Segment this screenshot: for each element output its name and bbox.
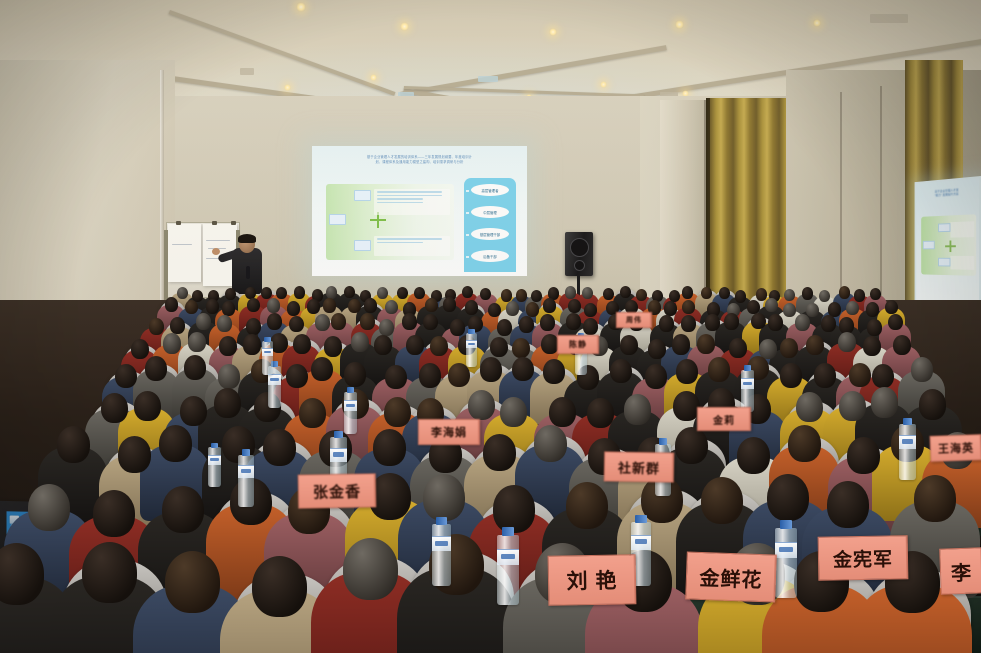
attendee-head — [893, 335, 911, 355]
attendee-head — [243, 334, 261, 354]
attendee-head — [131, 339, 149, 359]
attendee-head — [497, 319, 512, 336]
attendee-head — [871, 387, 898, 417]
recessed-downlight-icon — [284, 84, 291, 91]
attendee-head — [343, 538, 398, 600]
attendee-head — [28, 484, 70, 531]
ceiling-vent — [870, 14, 908, 23]
attendee-head — [724, 313, 739, 330]
secondary-plus-icon — [945, 240, 956, 252]
attendee-head — [566, 482, 608, 529]
water-bottle — [497, 535, 519, 605]
attendee-head — [795, 314, 810, 331]
attendee-head — [500, 397, 527, 427]
attendee-head — [814, 363, 836, 388]
attendee-head — [162, 486, 204, 533]
attendee-head — [584, 303, 597, 318]
attendee-head — [246, 318, 261, 335]
attendee-head — [385, 300, 398, 315]
attendee-head — [267, 313, 282, 330]
attendee-head — [516, 289, 527, 301]
name-card: 金莉 — [697, 407, 751, 431]
name-card: 张金香 — [298, 473, 377, 508]
attendee-head — [866, 302, 879, 317]
slide-bullet-oval: 后备干部 — [471, 250, 509, 262]
attendee-head — [480, 288, 491, 300]
attendee-head — [483, 434, 516, 471]
attendee-head — [534, 425, 567, 462]
attendee-head — [419, 363, 441, 388]
name-card-fold — [749, 407, 751, 430]
secondary-slide-title: 基于企业管理人才发 "能力" 发展提升方案 — [921, 187, 973, 199]
water-bottle — [741, 370, 754, 412]
attendee-head — [512, 357, 534, 382]
attendee-head — [568, 299, 581, 314]
attendee-head — [681, 315, 696, 332]
attendee-head — [543, 359, 565, 384]
attendee-head — [506, 301, 519, 316]
attendee-head — [911, 357, 933, 382]
attendee-head — [659, 315, 674, 332]
attendee-head — [315, 314, 330, 331]
recessed-downlight-icon — [675, 20, 684, 29]
attendee-head — [531, 290, 542, 302]
attendee-head — [351, 332, 369, 352]
attendee-head — [324, 336, 342, 356]
slide-tag-skill — [354, 240, 371, 251]
microphone — [246, 266, 250, 279]
attendee-head — [648, 339, 666, 359]
attendee-head — [134, 391, 161, 421]
presentation-slide: 基于企业管理人才发展的培训体系——三年发展规划纲要、年度培训计 划、课程体系及通… — [312, 146, 527, 276]
attendee-head — [377, 287, 388, 299]
water-bottle — [432, 524, 451, 586]
attendee-head — [177, 287, 188, 299]
attendee-head — [676, 359, 698, 384]
recessed-downlight-icon — [400, 22, 409, 31]
slide-bullet-oval: 高层管理者 — [471, 184, 509, 196]
attendee-head — [620, 286, 631, 298]
attendee-head — [849, 363, 871, 388]
attendee-head — [765, 298, 778, 313]
slide-text-box — [374, 236, 450, 256]
name-card-text: 金宪军 — [833, 544, 893, 572]
conference-room-photo: 基于企业管理人才发展的培训体系——三年发展规划纲要、年度培训计 划、课程体系及通… — [0, 0, 981, 653]
attendee-head — [170, 317, 185, 334]
attendee-head — [414, 287, 425, 299]
attendee-head — [806, 335, 824, 355]
water-bottle — [238, 455, 254, 507]
attendee-head — [217, 315, 232, 332]
attendee-head — [115, 364, 137, 389]
recessed-downlight-icon — [370, 74, 377, 81]
ceiling-vent — [240, 68, 254, 75]
attendee-head — [697, 334, 715, 354]
attendee-head — [549, 397, 576, 427]
water-bottle — [899, 424, 916, 480]
attendee-head — [767, 474, 809, 521]
attendee-head — [118, 436, 151, 473]
attendee-head — [323, 298, 336, 313]
name-card: 周伟 — [616, 312, 652, 328]
attendee-head — [664, 301, 677, 316]
attendee-head — [872, 364, 894, 389]
water-bottle — [262, 341, 273, 375]
attendee-head — [344, 286, 355, 298]
attendee-head — [219, 336, 237, 356]
attendee-head — [582, 287, 593, 299]
name-card-text: 李 — [951, 556, 973, 586]
attendee-head — [267, 298, 280, 313]
flipchart-clip — [231, 221, 236, 225]
name-card-text: 李海娟 — [431, 424, 467, 440]
attendee-head — [214, 388, 241, 418]
name-card-fold — [478, 419, 480, 444]
attendee-head — [374, 335, 392, 355]
attendee-head — [364, 298, 377, 313]
attendee-head — [854, 289, 865, 301]
attendee-head — [888, 314, 903, 331]
attendee-head — [450, 319, 465, 336]
attendee-head — [145, 356, 167, 381]
attendee-head — [425, 298, 438, 313]
name-card: 刘 艳 — [548, 554, 637, 606]
attendee-head — [180, 396, 207, 426]
attendee-head — [430, 336, 448, 356]
name-card: 金宪军 — [818, 535, 909, 581]
slide-tag-ability — [329, 214, 346, 225]
presenter-hair — [238, 234, 256, 243]
attendee-head — [863, 336, 881, 356]
ceiling-vent — [478, 76, 498, 82]
slide-green-panel — [326, 184, 454, 260]
attendee-head — [565, 286, 576, 298]
attendee-head — [672, 334, 690, 354]
attendee-head — [311, 357, 333, 382]
name-card: 社新群 — [604, 451, 675, 482]
flipchart-writing — [206, 240, 230, 241]
attendee-head — [838, 332, 856, 352]
attendee-head — [867, 319, 882, 336]
attendee-head — [373, 429, 406, 466]
attendee-head — [385, 365, 407, 390]
attendee-head — [603, 288, 614, 300]
attendee-head — [344, 362, 366, 387]
attendee-head — [331, 313, 346, 330]
attendee-head — [802, 287, 813, 299]
attendee-head — [526, 302, 539, 317]
attendee-head — [384, 397, 411, 427]
pa-speaker — [565, 232, 593, 276]
name-card-text: 王海英 — [938, 439, 975, 456]
attendee-head — [443, 297, 456, 312]
attendee-head — [465, 300, 478, 315]
attendee-head — [501, 289, 512, 301]
attendee-head — [488, 303, 501, 318]
attendee-head — [423, 474, 465, 521]
attendee-head — [360, 313, 375, 330]
name-card-text: 张金香 — [313, 480, 361, 502]
attendee-head — [493, 485, 535, 532]
attendee-head — [468, 390, 495, 420]
attendee-head — [780, 363, 802, 388]
attendee-head — [159, 425, 192, 462]
flipchart-writing — [172, 244, 192, 245]
attendee-head — [827, 481, 869, 528]
attendee-head — [218, 364, 240, 389]
recessed-downlight-icon — [296, 2, 306, 12]
projection-screen: 基于企业管理人才发展的培训体系——三年发展规划纲要、年度培训计 划、课程体系及通… — [312, 146, 527, 276]
attendee-head — [839, 391, 866, 421]
flipchart-clip — [212, 221, 217, 225]
water-bottle — [208, 447, 221, 487]
attendee-head — [839, 286, 850, 298]
attendee-head — [701, 477, 743, 524]
attendee-head — [543, 298, 556, 313]
slide-tag-knowledge — [354, 190, 371, 201]
attendee-head — [163, 333, 181, 353]
water-bottle — [466, 333, 477, 367]
flipchart-paper — [168, 224, 201, 282]
attendee-head — [705, 314, 720, 331]
attendee-head — [620, 335, 638, 355]
attendee-head — [57, 426, 90, 463]
name-card: 李 — [939, 547, 981, 594]
attendee-head — [624, 394, 651, 424]
name-card: 王海英 — [930, 434, 981, 462]
attendee-head — [402, 313, 417, 330]
slide-blue-panel: 高层管理者 中层管理 基层管理干部 后备干部 — [464, 178, 516, 272]
name-card-text: 刘 艳 — [566, 565, 617, 596]
recessed-downlight-icon — [600, 81, 607, 88]
attendee-head — [462, 286, 473, 298]
attendee-head — [566, 313, 581, 330]
attendee-head — [747, 300, 760, 315]
name-card-fold — [650, 312, 652, 327]
name-card: 李海娟 — [418, 419, 480, 445]
attendee-head — [751, 313, 766, 330]
attendee-head — [165, 297, 178, 312]
attendee-head — [101, 393, 128, 423]
attendee-head — [708, 357, 730, 382]
attendee-head — [682, 286, 693, 298]
attendee-head — [406, 335, 424, 355]
water-bottle — [344, 392, 357, 434]
attendee-head — [870, 288, 881, 300]
attendee-head — [294, 286, 305, 298]
name-card-text: 金鲜花 — [699, 561, 763, 592]
name-card: 金鲜花 — [685, 551, 777, 602]
attendee-head — [737, 437, 770, 474]
flipchart-clip — [176, 221, 181, 225]
presenter-hand — [212, 248, 220, 255]
attendee-head — [914, 475, 956, 522]
slide-title-text: 基于企业管理人才发展的培训体系——三年发展规划纲要、年度培训计 划、课程体系及通… — [320, 155, 519, 165]
attendee-head — [847, 437, 880, 474]
attendee-head — [263, 429, 296, 466]
water-bottle — [775, 528, 797, 598]
attendee-head — [348, 299, 361, 314]
attendee-head — [206, 299, 219, 314]
secondary-green-panel — [921, 214, 976, 276]
attendee-head — [480, 357, 502, 382]
attendee-head — [701, 287, 712, 299]
attendee-head — [93, 490, 135, 537]
attendee-head — [512, 338, 530, 358]
attendee-head — [885, 300, 898, 315]
attendee-head — [756, 288, 767, 300]
attendee-head — [188, 332, 206, 352]
name-card-text: 陈静 — [569, 339, 587, 350]
attendee-head — [583, 318, 598, 335]
attendee-head — [610, 359, 632, 384]
attendee-head — [768, 314, 783, 331]
attendee-head — [289, 316, 304, 333]
attendee-head — [645, 364, 667, 389]
attendee-head — [729, 338, 747, 358]
attendee-head — [252, 556, 307, 618]
attendee-head — [735, 290, 746, 302]
name-card-text: 社新群 — [618, 457, 660, 477]
attendee-head — [379, 319, 394, 336]
attendee-head — [636, 289, 647, 301]
attendee-head — [247, 298, 260, 313]
attendee-head — [846, 301, 859, 316]
attendee-head — [540, 314, 555, 331]
attendee-head — [682, 300, 695, 315]
attendee-head — [287, 301, 300, 316]
recessed-downlight-icon — [549, 28, 557, 36]
attendee-head — [796, 392, 823, 422]
attendee-head — [286, 364, 308, 389]
name-card-text: 周伟 — [626, 315, 642, 325]
attendee-head — [919, 389, 946, 419]
attendee-head — [82, 542, 137, 604]
attendee-head — [490, 337, 508, 357]
attendee-head — [780, 338, 798, 358]
name-card-text: 金莉 — [713, 412, 735, 427]
slide-text-box — [374, 189, 450, 215]
attendee-head — [806, 303, 819, 318]
attendee-head — [196, 313, 211, 330]
attendee-head — [719, 287, 730, 299]
attendee-head — [293, 334, 311, 354]
attendee-head — [165, 551, 220, 613]
attendee-head — [587, 398, 614, 428]
attendee-head — [326, 286, 337, 298]
recessed-downlight-icon — [813, 19, 821, 27]
slide-bullet-oval: 基层管理干部 — [471, 228, 509, 240]
attendee-head — [307, 299, 320, 314]
name-card-fold — [597, 335, 599, 353]
attendee-head — [184, 355, 206, 380]
slide-bullet-oval: 中层管理 — [471, 206, 509, 218]
attendee-head — [673, 391, 700, 421]
attendee-head — [225, 288, 236, 300]
attendee-head — [149, 318, 164, 335]
attendee-head — [519, 316, 534, 333]
attendee-head — [222, 301, 235, 316]
attendee-head — [299, 398, 326, 428]
attendee-head — [788, 425, 821, 462]
name-card: 陈静 — [557, 335, 599, 354]
attendee-head — [675, 427, 708, 464]
attendee-head — [821, 315, 836, 332]
